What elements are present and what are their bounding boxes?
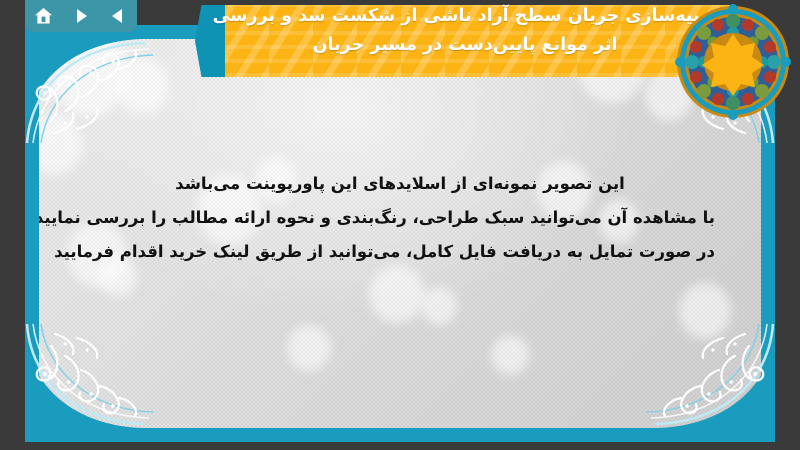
forward-button[interactable] (67, 4, 95, 28)
back-button[interactable] (104, 4, 132, 28)
title-banner (195, 0, 755, 105)
slide-viewer: این تصویر نمونه‌ای از اسلایدهای این پاور… (0, 0, 800, 450)
bokeh-circle (117, 57, 169, 115)
bokeh-circle (421, 287, 457, 325)
back-triangle-icon (110, 8, 126, 24)
banner-chevron-pattern (225, 5, 730, 77)
banner-stripe-pattern (225, 5, 730, 77)
navigation-bar (25, 0, 137, 32)
bokeh-circle (679, 283, 731, 339)
slide-body-text: این تصویر نمونه‌ای از اسلایدهای این پاور… (85, 167, 715, 269)
bokeh-circle (49, 39, 129, 117)
home-icon (34, 7, 53, 25)
banner-body (225, 5, 730, 77)
body-line: با مشاهده آن می‌توانید سبک طراحی، رنگ‌بن… (85, 201, 715, 235)
bokeh-circle (491, 335, 529, 375)
bokeh-circle (287, 325, 331, 371)
forward-triangle-icon (73, 8, 89, 24)
body-line: در صورت تمایل به دریافت فایل کامل، می‌تو… (85, 235, 715, 269)
bokeh-circle (39, 113, 83, 175)
home-button[interactable] (30, 4, 58, 28)
bokeh-circle (369, 265, 425, 323)
body-line: این تصویر نمونه‌ای از اسلایدهای این پاور… (85, 167, 715, 201)
